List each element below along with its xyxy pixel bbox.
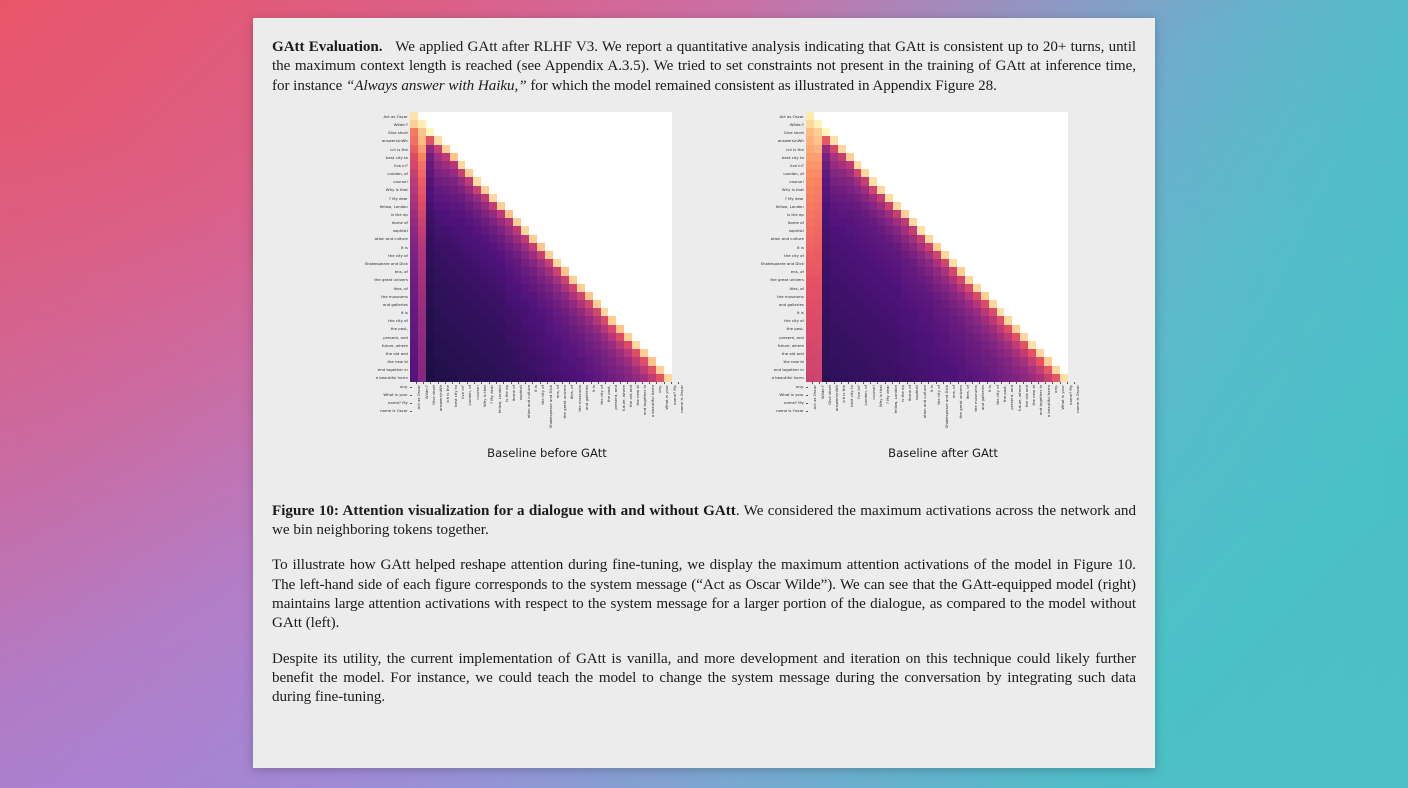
heatmap-cell-empty	[925, 202, 933, 210]
heatmap-cell	[473, 341, 481, 349]
heatmap-cell-empty	[1060, 251, 1068, 259]
heatmap-cell-empty	[553, 235, 561, 243]
heatmap-cell-empty	[529, 202, 537, 210]
heatmap-cell	[458, 243, 466, 251]
heatmap-cell	[1012, 366, 1020, 374]
heatmap-cell	[838, 316, 846, 324]
heatmap-cell	[585, 300, 593, 308]
heatmap-cell-empty	[577, 112, 585, 120]
heatmap-cell-empty	[1044, 251, 1052, 259]
heatmap-cell	[885, 366, 893, 374]
heatmap-cell	[601, 308, 609, 316]
heatmap-cell	[846, 316, 854, 324]
heatmap-cell-empty	[1044, 145, 1052, 153]
heatmap-cell-empty	[949, 235, 957, 243]
heatmap-cell	[822, 267, 830, 275]
heatmap-cell-empty	[545, 120, 553, 128]
heatmap-cell-empty	[1028, 316, 1036, 324]
heatmap-cell	[885, 267, 893, 275]
heatmap-cell	[861, 357, 869, 365]
heatmap-cell	[1052, 374, 1060, 382]
heatmap-cell	[854, 202, 862, 210]
heatmap-cell	[426, 202, 434, 210]
heatmap-cell	[989, 325, 997, 333]
heatmap-cell-empty	[601, 194, 609, 202]
heatmap-cell	[997, 341, 1005, 349]
y-tick-label: sophisti	[736, 227, 806, 235]
heatmap-cell	[537, 325, 545, 333]
heatmap-cell-empty	[624, 169, 632, 177]
heatmap-cell	[458, 292, 466, 300]
heatmap-cell	[458, 235, 466, 243]
heatmap-cell-empty	[513, 145, 521, 153]
heatmap-cell	[458, 284, 466, 292]
heatmap-cell-empty	[933, 177, 941, 185]
heatmap-cell-empty	[901, 177, 909, 185]
heatmap-cell	[426, 226, 434, 234]
heatmap-cell-empty	[569, 145, 577, 153]
heatmap-cell-empty	[656, 169, 664, 177]
heatmap-cell	[917, 366, 925, 374]
heatmap-cell	[965, 308, 973, 316]
x-tick-label: Shakespeare and Dick	[549, 385, 553, 428]
heatmap-cell	[489, 349, 497, 357]
heatmap-cell-empty	[608, 292, 616, 300]
heatmap-cell	[1004, 349, 1012, 357]
x-tick-label: end together in	[1039, 385, 1043, 415]
heatmap-cell-empty	[601, 112, 609, 120]
heatmap-cell	[505, 210, 513, 218]
heatmap-cell-empty	[561, 218, 569, 226]
heatmap-cell-empty	[1004, 177, 1012, 185]
heatmap-cell-empty	[545, 145, 553, 153]
heatmap-cell-empty	[577, 210, 585, 218]
y-tick-label: itome of	[340, 219, 410, 227]
y-tick-label: ich is the	[736, 146, 806, 154]
heatmap-cell	[418, 145, 426, 153]
heatmap-cell	[434, 374, 442, 382]
heatmap-cell-empty	[997, 235, 1005, 243]
heatmap-cell	[933, 316, 941, 324]
heatmap-cell-empty	[521, 177, 529, 185]
heatmap-cell	[473, 292, 481, 300]
heatmap-cell-empty	[648, 210, 656, 218]
x-tick-label: name is Oscar	[1076, 385, 1080, 413]
heatmap-cell	[632, 366, 640, 374]
heatmap-cell	[481, 284, 489, 292]
heatmap-cell-empty	[973, 235, 981, 243]
heatmap-cell-empty	[1052, 161, 1060, 169]
heatmap-cell-empty	[1052, 333, 1060, 341]
heatmap-cell-empty	[1004, 136, 1012, 144]
heatmap-cell	[846, 251, 854, 259]
heatmap-cell	[877, 349, 885, 357]
heatmap-cell-empty	[497, 169, 505, 177]
heatmap-cell-empty	[1036, 161, 1044, 169]
heatmap-cell-empty	[656, 300, 664, 308]
heatmap-cell	[822, 177, 830, 185]
heatmap-cell-empty	[1004, 202, 1012, 210]
heatmap-cell-empty	[1012, 235, 1020, 243]
heatmap-cell	[513, 284, 521, 292]
heatmap-cell-empty	[537, 235, 545, 243]
heatmap-cell-empty	[1036, 267, 1044, 275]
heatmap-cell-empty	[989, 259, 997, 267]
heatmap-cell-empty	[640, 292, 648, 300]
heatmap-cell-empty	[925, 226, 933, 234]
heatmap-cell	[497, 366, 505, 374]
heatmap-cell	[846, 186, 854, 194]
heatmap-cell	[901, 259, 909, 267]
heatmap-cell	[521, 226, 529, 234]
heatmap-cell-empty	[648, 341, 656, 349]
heatmap-cell	[577, 374, 585, 382]
heatmap-cell	[505, 341, 513, 349]
heatmap-cell-empty	[537, 210, 545, 218]
heatmap-cell	[458, 308, 466, 316]
heatmap-cell-empty	[545, 226, 553, 234]
heatmap-cell-empty	[664, 284, 672, 292]
heatmap-cell	[877, 374, 885, 382]
heatmap-cell-empty	[1020, 112, 1028, 120]
x-tick-label: itome of	[908, 385, 912, 401]
heatmap-cell	[925, 259, 933, 267]
heatmap-cell-empty	[1012, 112, 1020, 120]
heatmap-cell-empty	[577, 235, 585, 243]
heatmap-cell-empty	[624, 243, 632, 251]
heatmap-cell-empty	[1004, 226, 1012, 234]
heatmap-cell	[941, 374, 949, 382]
heatmap-cell-empty	[593, 202, 601, 210]
x-tick-label: Act as Oscar	[813, 385, 817, 409]
heatmap-cell	[593, 316, 601, 324]
heatmap-cell-empty	[1044, 161, 1052, 169]
heatmap-cell-empty	[925, 177, 933, 185]
heatmap-cell	[957, 267, 965, 275]
heatmap-cell	[608, 357, 616, 365]
heatmap-cell-empty	[957, 235, 965, 243]
heatmap-cell	[521, 259, 529, 267]
heatmap-cell	[442, 194, 450, 202]
x-tick-label: a beautiful harm	[651, 385, 655, 417]
heatmap-cell-empty	[1012, 145, 1020, 153]
x-tick-mark	[445, 382, 446, 384]
heatmap-cell-empty	[1052, 259, 1060, 267]
heatmap-cell	[521, 284, 529, 292]
heatmap-cell-empty	[561, 169, 569, 177]
heatmap-cell	[957, 357, 965, 365]
heatmap-cell-empty	[949, 177, 957, 185]
heatmap-cell	[1012, 333, 1020, 341]
heatmap-cell	[941, 333, 949, 341]
heatmap-cell	[925, 308, 933, 316]
heatmap-cell	[909, 284, 917, 292]
heatmap-cell	[418, 325, 426, 333]
heatmap-cell	[418, 341, 426, 349]
heatmap-cell-empty	[973, 161, 981, 169]
y-tick-label: live in?	[736, 162, 806, 170]
heatmap-cell-empty	[640, 177, 648, 185]
heatmap-cell-empty	[1036, 177, 1044, 185]
heatmap-cell	[965, 284, 973, 292]
heatmap-cell-empty	[877, 169, 885, 177]
heatmap-cell	[893, 235, 901, 243]
heatmap-cell	[537, 333, 545, 341]
heatmap-cell	[529, 292, 537, 300]
heatmap-cell-empty	[624, 276, 632, 284]
heatmap-cell	[458, 169, 466, 177]
heatmap-cell-empty	[1020, 136, 1028, 144]
heatmap-cell-empty	[997, 145, 1005, 153]
heatmap-cell-empty	[593, 112, 601, 120]
heatmap-cell	[585, 366, 593, 374]
heatmap-cell-empty	[616, 218, 624, 226]
heatmap-cell	[822, 333, 830, 341]
heatmap-cell	[489, 235, 497, 243]
heatmap-cell-empty	[917, 145, 925, 153]
heatmap-cell	[822, 366, 830, 374]
heatmap-cell	[854, 292, 862, 300]
heatmap-cell-empty	[1012, 210, 1020, 218]
heatmap-cell	[973, 325, 981, 333]
heatmap-cell	[481, 235, 489, 243]
heatmap-cell	[854, 267, 862, 275]
heatmap-cell	[513, 218, 521, 226]
heatmap-cell	[814, 226, 822, 234]
y-tick-label: Why is that	[340, 186, 410, 194]
heatmap-cell-empty	[973, 251, 981, 259]
heatmap-cell	[569, 276, 577, 284]
heatmap-cell	[806, 128, 814, 136]
heatmap-cell-empty	[577, 226, 585, 234]
heatmap-cell-empty	[521, 210, 529, 218]
heatmap-cell-empty	[505, 120, 513, 128]
heatmap-cell-empty	[513, 210, 521, 218]
heatmap-cell	[861, 177, 869, 185]
heatmap-cell	[949, 276, 957, 284]
y-tick-label: a beautiful harm	[736, 374, 806, 382]
heatmap-cell	[624, 349, 632, 357]
heatmap-cell	[885, 251, 893, 259]
heatmap-cell-empty	[577, 194, 585, 202]
heatmap-cell-empty	[1052, 128, 1060, 136]
heatmap-cell	[505, 316, 513, 324]
heatmap-cell	[537, 366, 545, 374]
heatmap-cell-empty	[601, 267, 609, 275]
heatmap-cell-empty	[909, 128, 917, 136]
heatmap-cell-empty	[553, 194, 561, 202]
heatmap-cell	[577, 341, 585, 349]
heatmap-cell-empty	[664, 300, 672, 308]
heatmap-cell	[458, 226, 466, 234]
heatmap-cell	[481, 357, 489, 365]
x-tick-label: best city to	[850, 385, 854, 407]
heatmap-cell	[861, 284, 869, 292]
heatmap-cell-empty	[1036, 128, 1044, 136]
heatmap-cell	[434, 235, 442, 243]
heatmap-cell	[434, 145, 442, 153]
heatmap-cell-empty	[957, 120, 965, 128]
heatmap-cell	[450, 202, 458, 210]
heatmap-cell	[465, 300, 473, 308]
heatmap-cell	[505, 276, 513, 284]
y-tick-label: ens, of	[340, 268, 410, 276]
y-tick-label: It is	[736, 309, 806, 317]
heatmap-cell-empty	[869, 112, 877, 120]
subplot-caption-after: Baseline after GAtt	[808, 446, 1078, 460]
heatmap-cell-empty	[648, 128, 656, 136]
heatmap-cell	[537, 308, 545, 316]
heatmap-cell-empty	[648, 226, 656, 234]
heatmap-cell	[442, 226, 450, 234]
heatmap-cell	[822, 259, 830, 267]
heatmap-cell-empty	[664, 251, 672, 259]
heatmap-cell-empty	[917, 194, 925, 202]
heatmap-cell	[410, 112, 418, 120]
heatmap-cell	[917, 284, 925, 292]
y-tick-label: Act as Oscar	[340, 113, 410, 121]
heatmap-cell	[442, 186, 450, 194]
heatmap-cell	[806, 226, 814, 234]
heatmap-cell	[861, 210, 869, 218]
heatmap-cell	[1004, 357, 1012, 365]
heatmap-cell	[1012, 325, 1020, 333]
heatmap-cell-empty	[529, 186, 537, 194]
heatmap-cell-empty	[585, 251, 593, 259]
heatmap-cell-empty	[1012, 276, 1020, 284]
heatmap-cell	[426, 292, 434, 300]
heatmap-cell-empty	[601, 276, 609, 284]
heatmap-cell	[664, 374, 672, 382]
heatmap-cell	[861, 374, 869, 382]
heatmap-cell	[877, 357, 885, 365]
heatmap-cell	[869, 349, 877, 357]
heatmap-cell-empty	[1020, 169, 1028, 177]
heatmap-cell-empty	[593, 194, 601, 202]
heatmap-cell-empty	[537, 226, 545, 234]
heatmap-cell-empty	[854, 112, 862, 120]
heatmap-cell-empty	[997, 153, 1005, 161]
heatmap-cell-empty	[616, 136, 624, 144]
heatmap-cell-empty	[957, 169, 965, 177]
heatmap-cell	[442, 316, 450, 324]
x-tick-mark	[958, 382, 959, 384]
heatmap-cell-empty	[497, 128, 505, 136]
y-tick-label: the past,	[736, 325, 806, 333]
heatmap-cell-empty	[949, 145, 957, 153]
heatmap-cell-empty	[569, 120, 577, 128]
heatmap-cell-empty	[925, 120, 933, 128]
heatmap-cell-empty	[513, 194, 521, 202]
heatmap-cell	[822, 136, 830, 144]
heatmap-cell-empty	[973, 145, 981, 153]
heatmap-cell	[846, 276, 854, 284]
heatmap-cell	[513, 366, 521, 374]
heatmap-cell-empty	[901, 120, 909, 128]
heatmap-cell-empty	[601, 284, 609, 292]
heatmap-cell-empty	[893, 161, 901, 169]
heatmap-cell	[806, 210, 814, 218]
heatmap-cell	[901, 333, 909, 341]
heatmap-cell	[925, 325, 933, 333]
heatmap-cell	[434, 308, 442, 316]
heatmap-cell	[521, 325, 529, 333]
heatmap-cell	[1036, 357, 1044, 365]
x-tick-mark	[1009, 382, 1010, 384]
heatmap-cell-empty	[529, 177, 537, 185]
heatmap-cell	[901, 341, 909, 349]
heatmap-cell	[973, 316, 981, 324]
heatmap-cell-empty	[941, 145, 949, 153]
heatmap-cell-empty	[901, 112, 909, 120]
heatmap-cell	[426, 276, 434, 284]
heatmap-cell	[814, 300, 822, 308]
heatmap-cell-empty	[608, 300, 616, 308]
heatmap-cell	[933, 267, 941, 275]
heatmap-cell-empty	[949, 202, 957, 210]
heatmap-cell-empty	[450, 145, 458, 153]
body-paragraph-2: Despite its utility, the current impleme…	[272, 650, 1136, 708]
x-tick-mark	[855, 382, 856, 384]
x-tick-label: ich is the	[842, 385, 846, 403]
heatmap-cell	[418, 194, 426, 202]
y-tick-label: the past,	[340, 325, 410, 333]
heatmap-cell	[893, 292, 901, 300]
heatmap-cell	[465, 333, 473, 341]
heatmap-cell-empty	[909, 120, 917, 128]
heatmap-cell	[481, 259, 489, 267]
heatmap-cell	[877, 235, 885, 243]
heatmap-cell-empty	[664, 325, 672, 333]
heatmap-cell-empty	[869, 161, 877, 169]
x-tick-mark	[972, 382, 973, 384]
heatmap-cell-empty	[577, 128, 585, 136]
heatmap-cell	[830, 243, 838, 251]
heatmap-cell-empty	[981, 267, 989, 275]
heatmap-cell-empty	[632, 136, 640, 144]
heatmap-cell-empty	[1020, 316, 1028, 324]
heatmap-cell	[917, 300, 925, 308]
heatmap-cell	[822, 186, 830, 194]
heatmap-cell-empty	[529, 194, 537, 202]
heatmap-cell-empty	[656, 218, 664, 226]
heatmap-cell	[505, 374, 513, 382]
heatmap-cell	[458, 194, 466, 202]
heatmap-cell	[569, 284, 577, 292]
heatmap-cell-empty	[997, 161, 1005, 169]
heatmap-cell	[473, 235, 481, 243]
heatmap-cell-empty	[601, 169, 609, 177]
heatmap-cell	[497, 267, 505, 275]
heatmap-cell	[418, 292, 426, 300]
heatmap-cell	[925, 276, 933, 284]
heatmap-cell	[822, 210, 830, 218]
heatmap-cell-empty	[648, 325, 656, 333]
heatmap-cell	[909, 308, 917, 316]
heatmap-cell	[909, 366, 917, 374]
x-tick-mark	[518, 382, 519, 384]
heatmap-cell-empty	[1060, 366, 1068, 374]
heatmap-cell-empty	[997, 243, 1005, 251]
heatmap-cell-empty	[1012, 300, 1020, 308]
heatmap-cell-empty	[861, 112, 869, 120]
heatmap-cell	[450, 218, 458, 226]
heatmap-cell-empty	[1012, 308, 1020, 316]
heatmap-cell	[497, 300, 505, 308]
heatmap-cell-empty	[981, 235, 989, 243]
heatmap-cell-empty	[909, 169, 917, 177]
heatmap-cell	[481, 349, 489, 357]
